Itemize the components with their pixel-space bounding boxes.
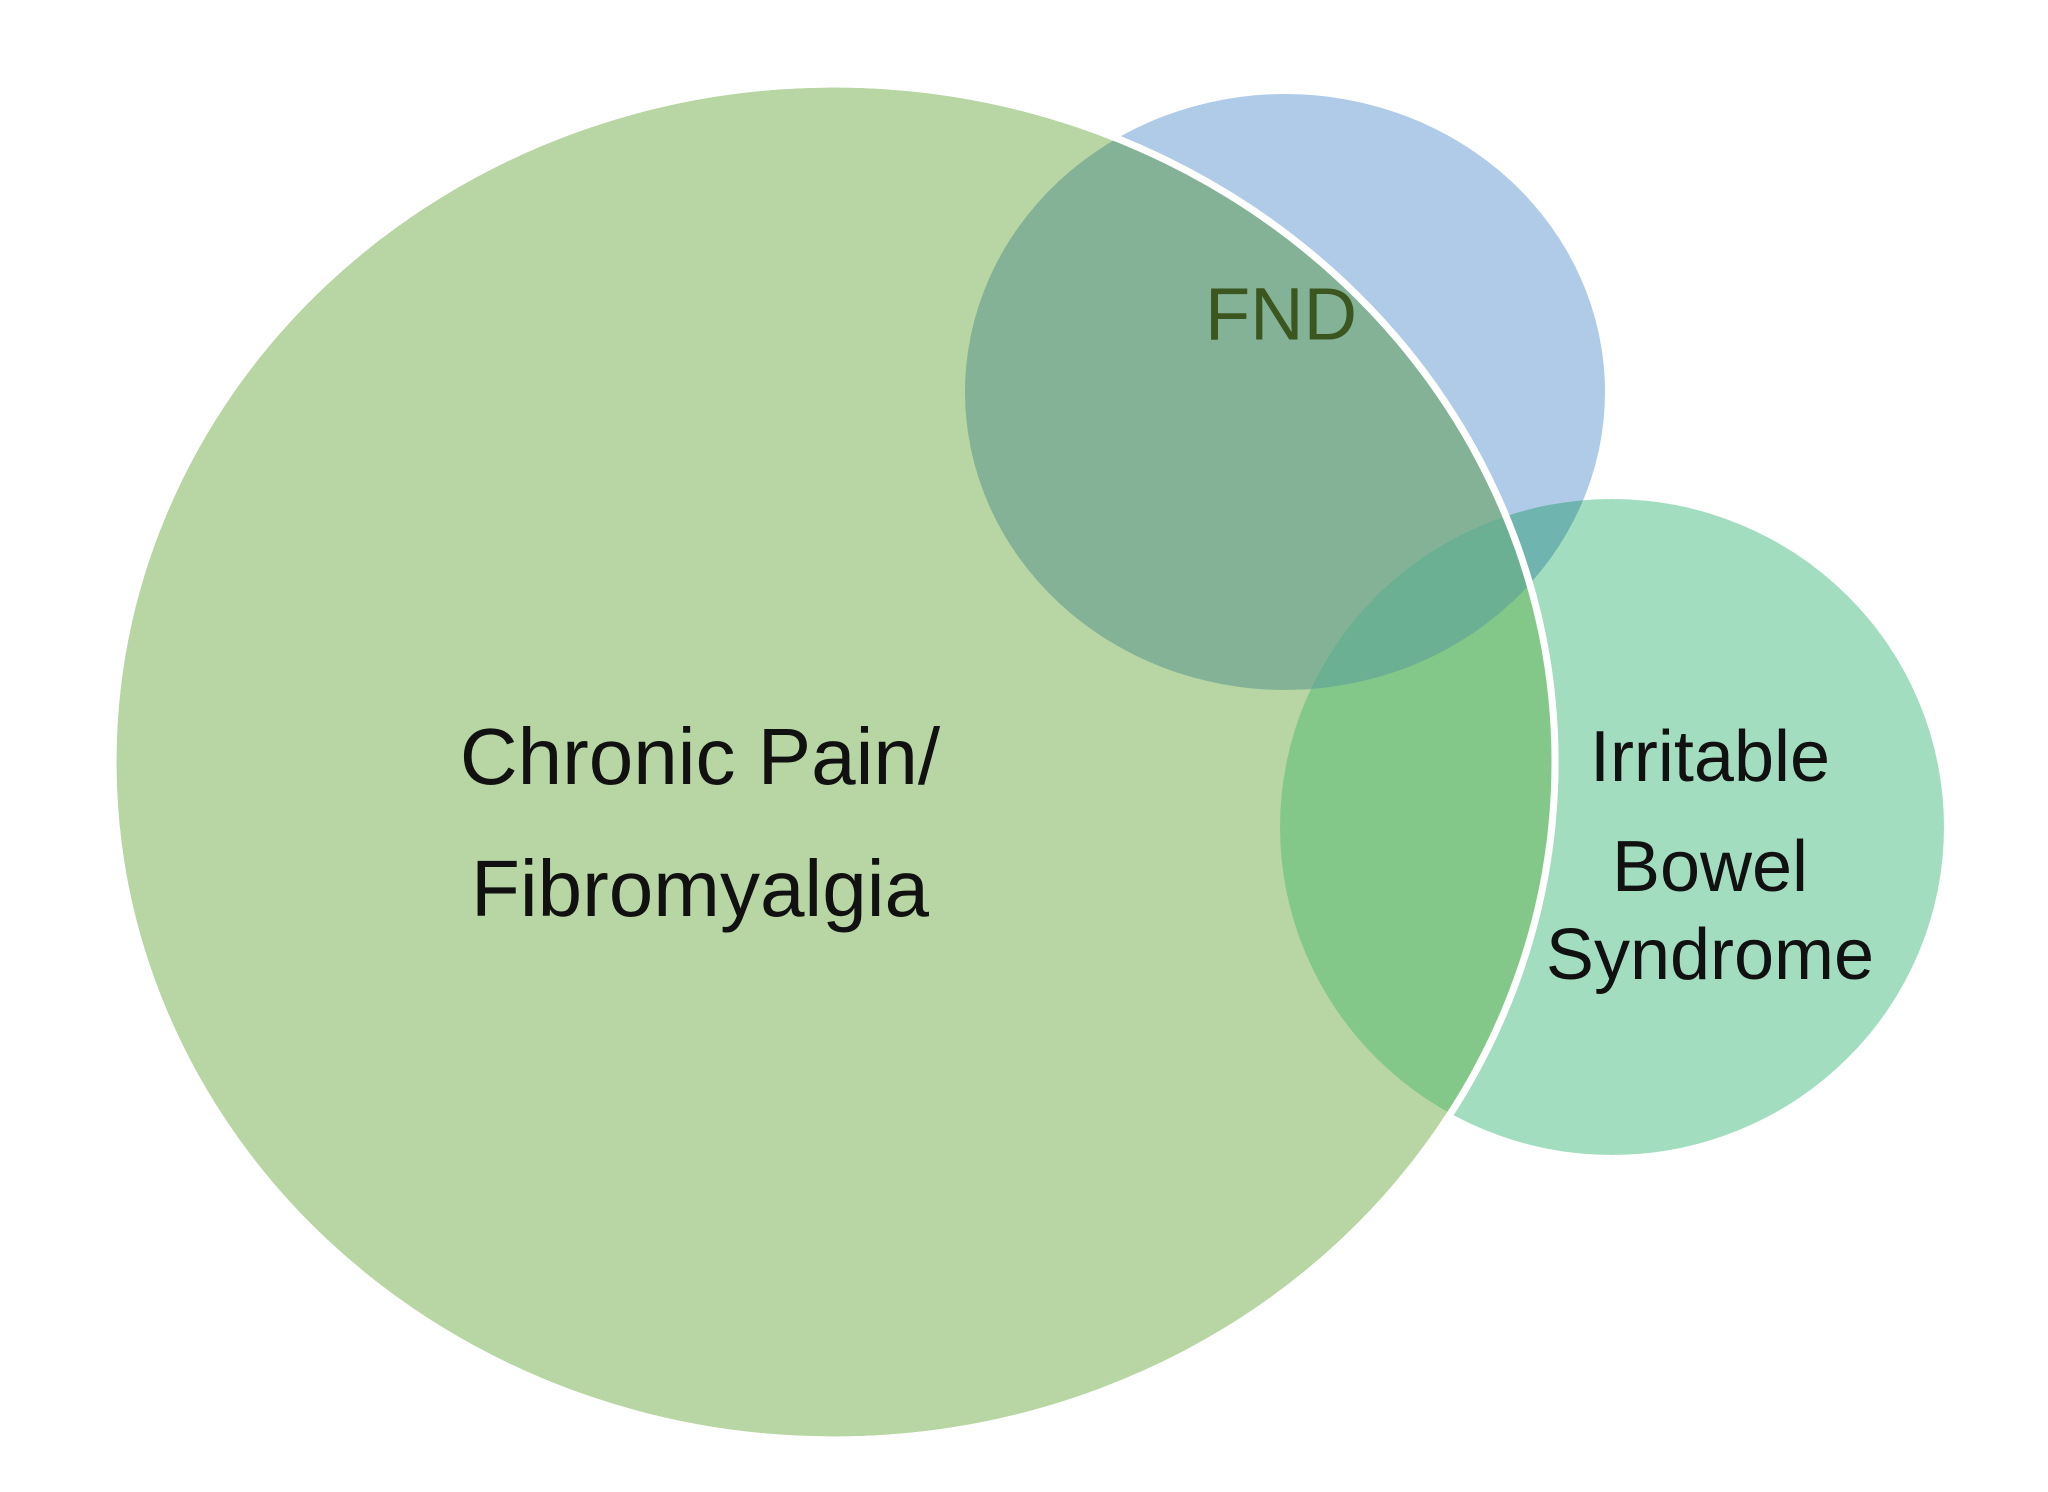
set-label-ibs-line1: Irritable [1590, 717, 1830, 797]
venn-diagram-svg: FND Chronic Pain/ Fibromyalgia Irritable… [0, 0, 2048, 1492]
set-label-chronic-pain-line2: Fibromyalgia [471, 844, 929, 933]
set-label-ibs-line3: Syndrome [1546, 915, 1874, 995]
set-label-ibs-line2: Bowel [1612, 827, 1808, 907]
venn-diagram-canvas: FND Chronic Pain/ Fibromyalgia Irritable… [0, 0, 2048, 1492]
set-label-fnd: FND [1205, 273, 1357, 356]
set-label-chronic-pain-line1: Chronic Pain/ [460, 712, 941, 801]
